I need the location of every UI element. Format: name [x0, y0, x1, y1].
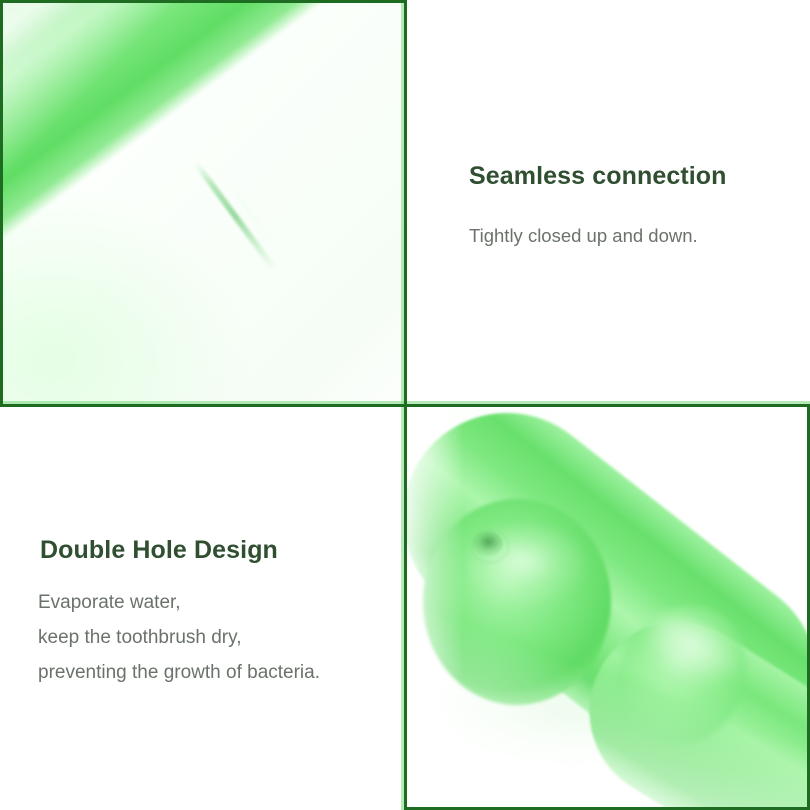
feature-body-line: Evaporate water, — [38, 593, 320, 612]
feature-body-line: keep the toothbrush dry, — [38, 628, 320, 647]
feature-title-seamless-connection: Seamless connection — [469, 162, 727, 191]
panel-top-right-text: Seamless connection Tightly closed up an… — [407, 0, 810, 407]
panel-top-left-photo — [0, 0, 407, 407]
feature-body-line: preventing the growth of bacteria. — [38, 663, 320, 682]
feature-title-double-hole-design: Double Hole Design — [38, 536, 278, 565]
panel-bottom-right-photo — [407, 407, 810, 810]
feature-block-seamless-connection: Seamless connection Tightly closed up an… — [407, 0, 810, 407]
ventilation-hole — [473, 531, 503, 557]
feature-block-double-hole-design: Double Hole Design Evaporate water, keep… — [0, 407, 407, 810]
photo-tube-seam — [0, 0, 407, 407]
feature-body-seamless-connection: Tightly closed up and down. — [469, 227, 698, 246]
panel-bottom-left-text: Double Hole Design Evaporate water, keep… — [0, 407, 407, 810]
photo-tube-ends — [407, 407, 810, 810]
product-feature-infographic: Seamless connection Tightly closed up an… — [0, 0, 810, 810]
feature-body-double-hole-design: Evaporate water, keep the toothbrush dry… — [38, 593, 320, 682]
